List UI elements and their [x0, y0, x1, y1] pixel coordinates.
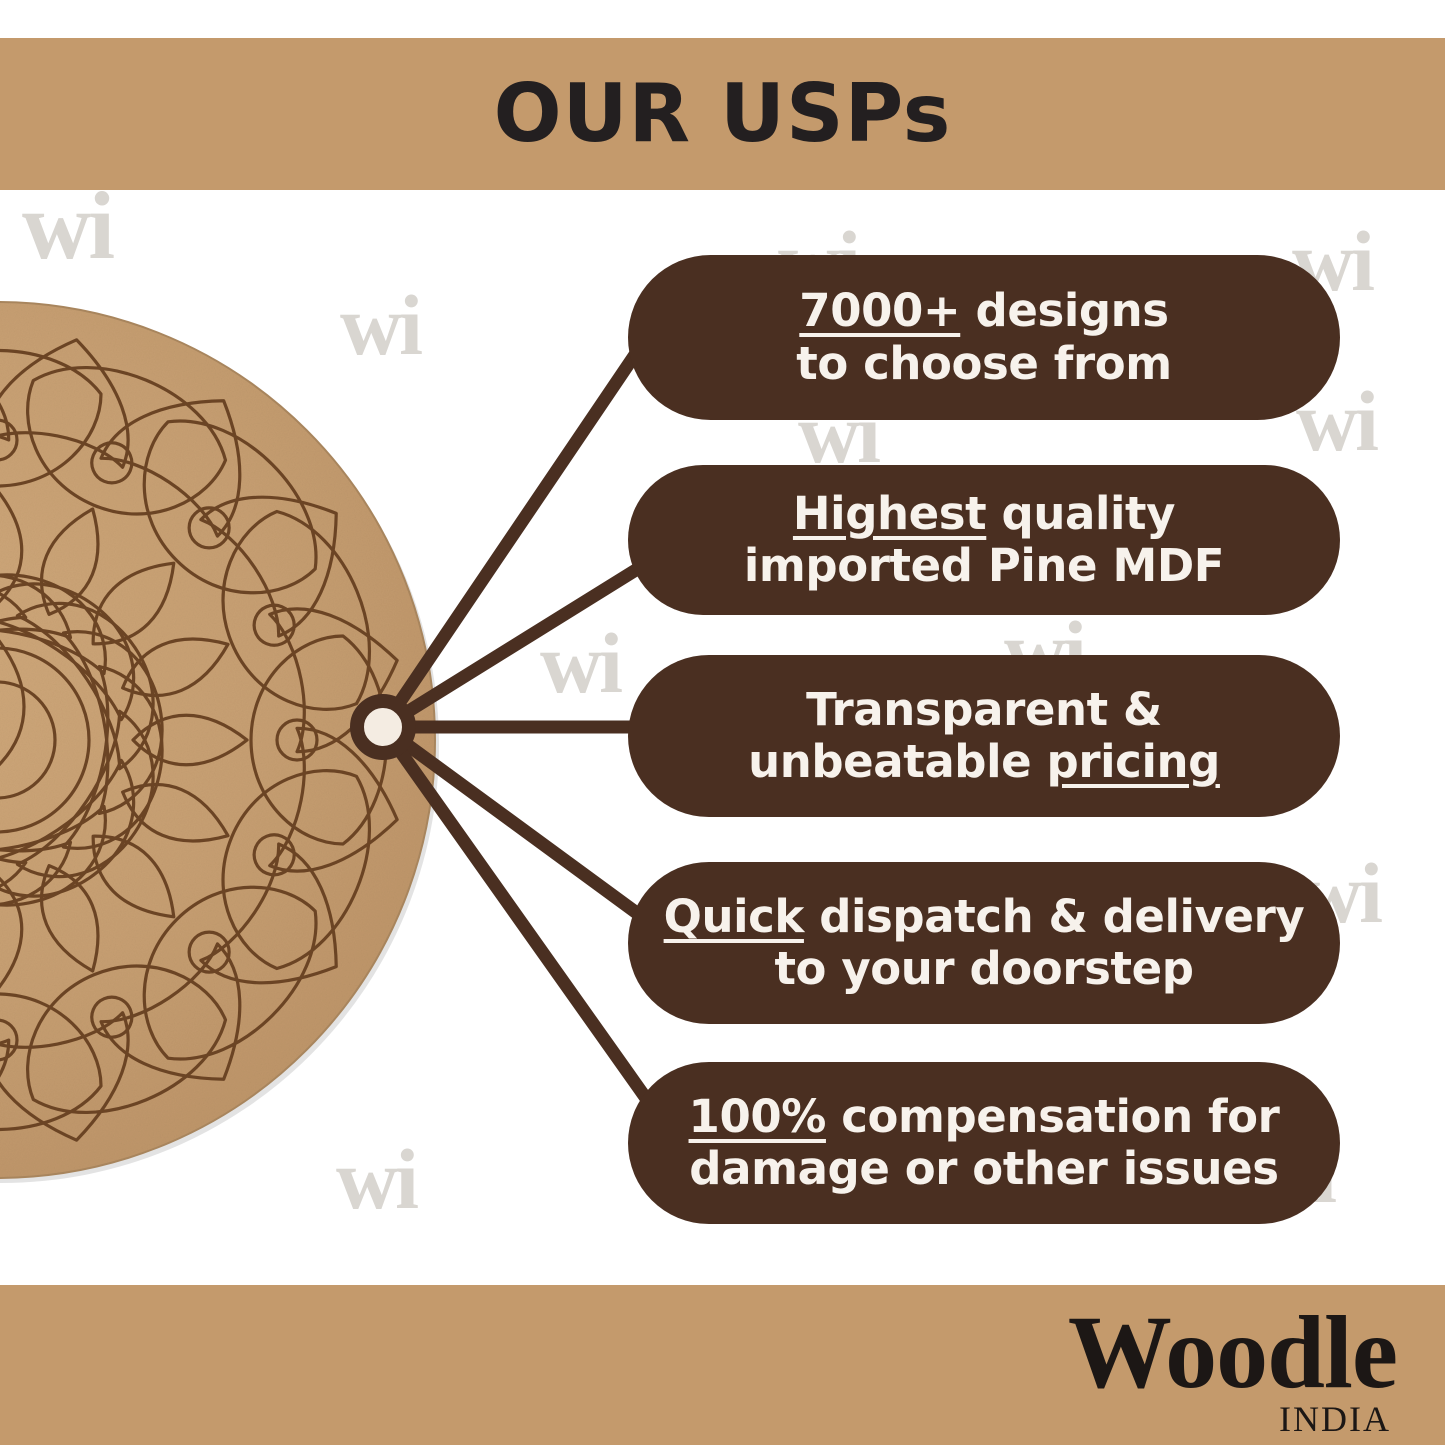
usp-highlight-pricing: pricing [1047, 735, 1220, 788]
usp-pill-compensation[interactable]: 100% compensation for damage or other is… [628, 1062, 1340, 1224]
usp-rest-compensation: compensation for [826, 1090, 1280, 1143]
usp-rest-quality: quality [986, 487, 1175, 540]
hub-node [350, 694, 416, 760]
usp-pill-designs[interactable]: 7000+ designs to choose from [628, 255, 1340, 420]
usp-pill-pricing[interactable]: Transparent & unbeatable pricing [628, 655, 1340, 817]
usp-text-compensation: 100% compensation for damage or other is… [689, 1091, 1280, 1195]
usp-text-dispatch: Quick dispatch & delivery to your doorst… [664, 891, 1305, 995]
header-band: OUR USPs [0, 38, 1445, 190]
usp-line2-dispatch: to your doorstep [774, 942, 1193, 995]
brand-wordmark: Woodle [1068, 1301, 1397, 1405]
usp-line1-pricing: Transparent & [806, 683, 1162, 736]
usp-pre-pricing: unbeatable [748, 735, 1046, 788]
usp-text-pricing: Transparent & unbeatable pricing [748, 684, 1220, 788]
usp-rest-dispatch: dispatch & delivery [804, 890, 1304, 943]
usp-list: 7000+ designs to choose from Highest qua… [0, 0, 1445, 1445]
usp-text-designs: 7000+ designs to choose from [796, 285, 1172, 389]
usp-highlight-quality: Highest [793, 487, 986, 540]
usp-text-quality: Highest quality imported Pine MDF [744, 488, 1224, 592]
usp-line2-quality: imported Pine MDF [744, 539, 1224, 592]
usp-pill-dispatch[interactable]: Quick dispatch & delivery to your doorst… [628, 862, 1340, 1024]
usp-highlight-compensation: 100% [689, 1090, 826, 1143]
usp-rest-designs: designs [960, 284, 1168, 337]
usp-line2-designs: to choose from [796, 337, 1172, 390]
usp-highlight-designs: 7000+ [799, 284, 960, 337]
infographic-canvas: wi wi wi wi wi wi wi wi wi wi wi [0, 0, 1445, 1445]
page-title: OUR USPs [494, 74, 952, 154]
usp-pill-quality[interactable]: Highest quality imported Pine MDF [628, 465, 1340, 615]
brand-logo: Woodle INDIA [1068, 1301, 1397, 1437]
usp-line2-compensation: damage or other issues [689, 1142, 1278, 1195]
footer-band: Woodle INDIA [0, 1285, 1445, 1445]
usp-highlight-dispatch: Quick [664, 890, 804, 943]
